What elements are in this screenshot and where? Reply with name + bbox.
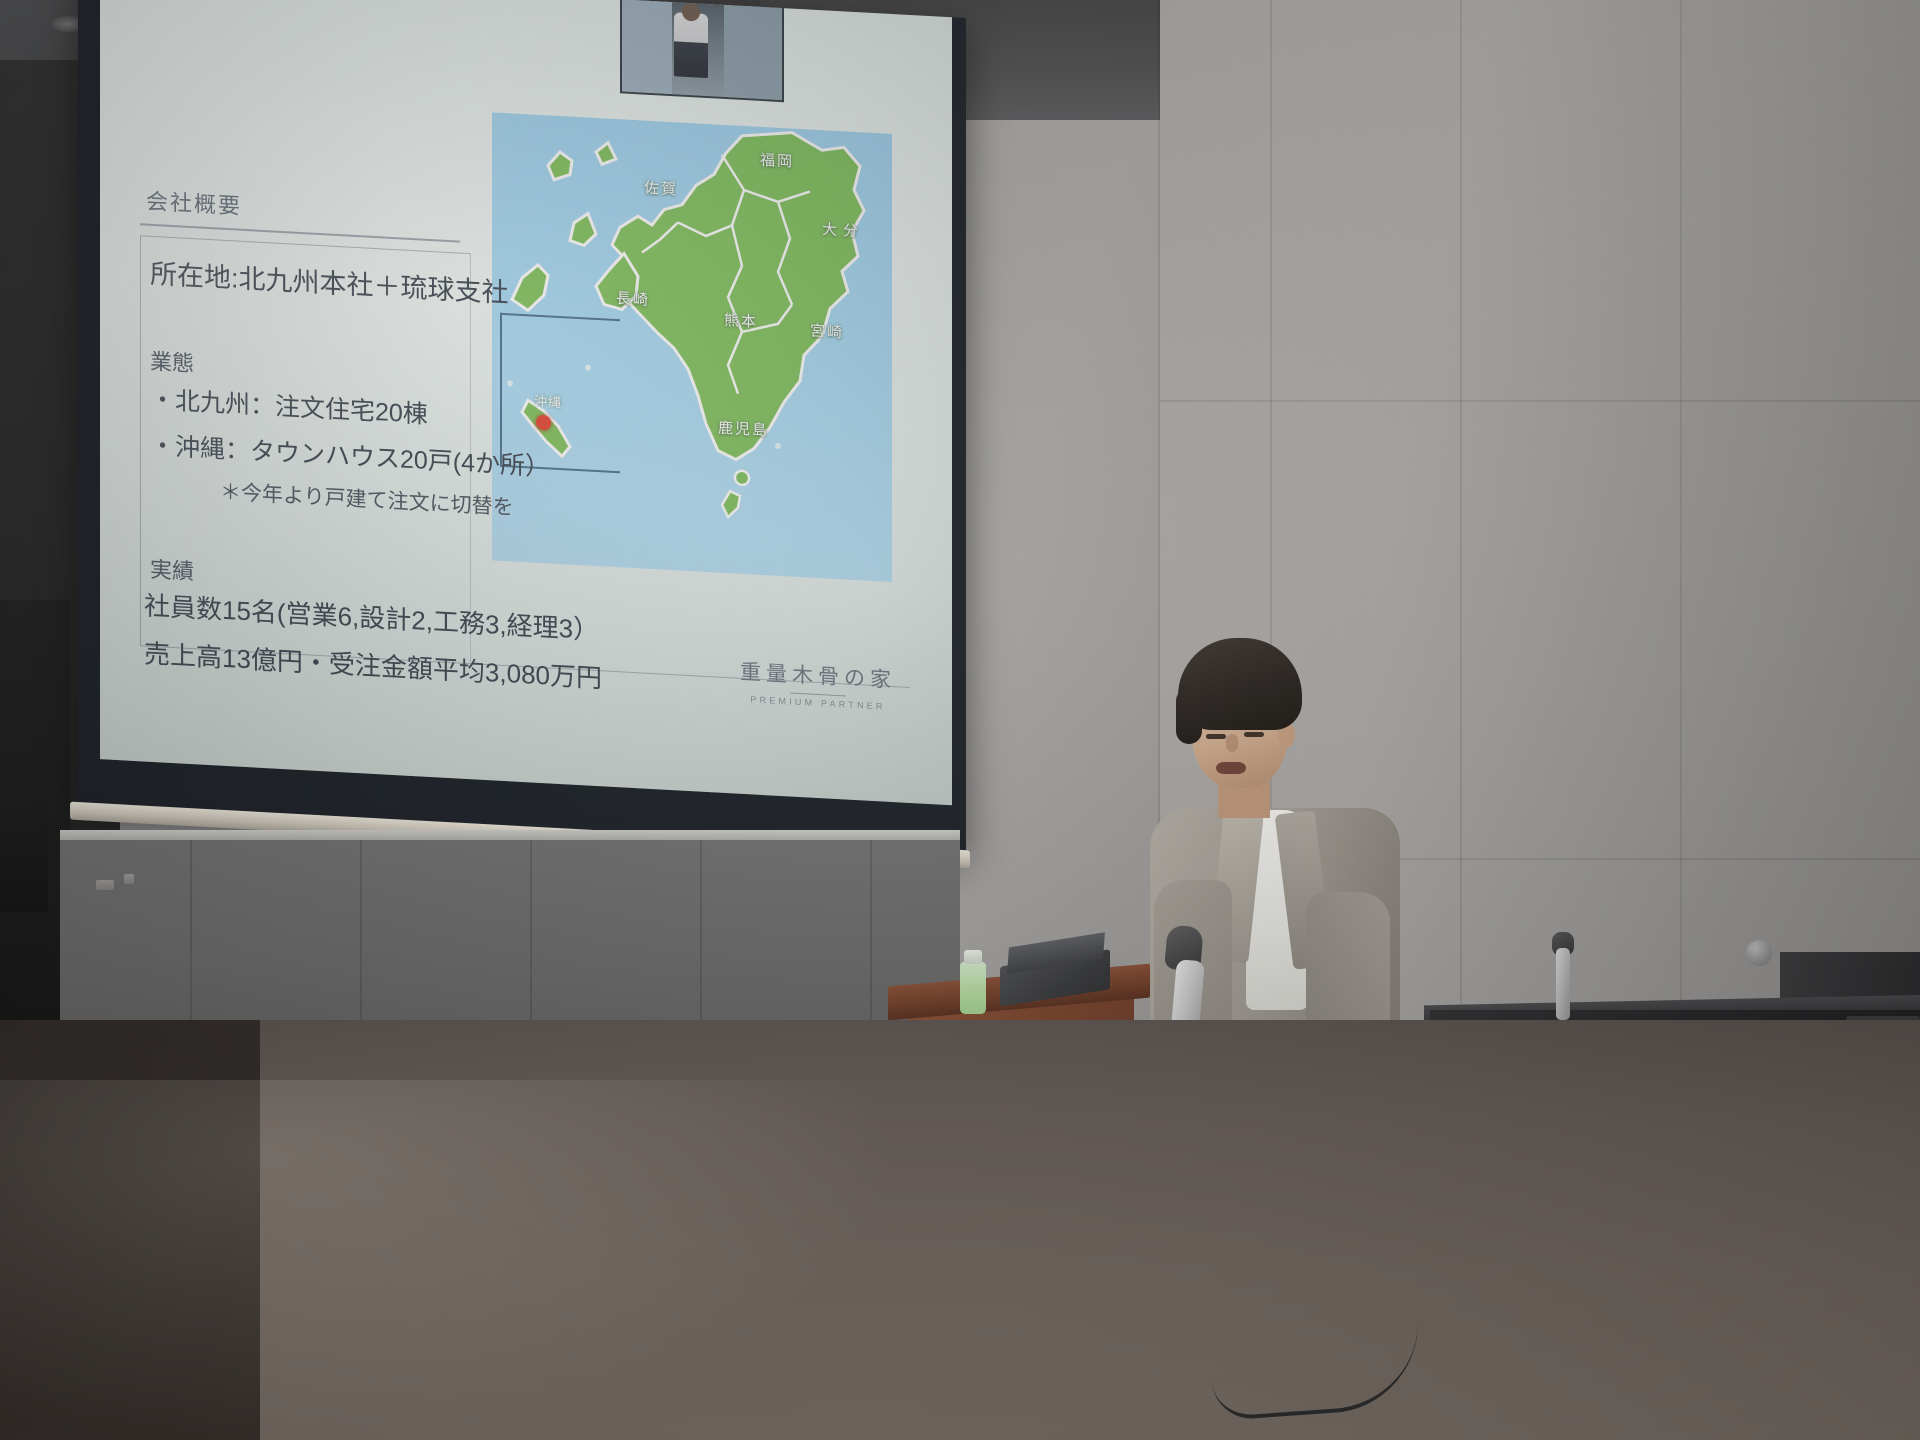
wall-monitor [0,782,48,912]
slide-business-item-1: ・北九州：注文住宅20棟 [150,380,428,431]
speaker-eye-right [1244,732,1264,737]
speaker-eye-left [1206,734,1226,739]
map-label-nagasaki: 長崎 [616,287,650,310]
map-label-fukuoka: 福岡 [760,149,794,172]
bottle-cap [964,950,982,964]
slide-business-heading: 業態 [150,344,194,378]
map-label-saga: 佐賀 [644,177,678,200]
brand-logo-kanji: 重量木骨の家 [740,656,896,694]
table-microphone [1556,948,1570,1020]
pip-camera-feed [620,0,784,102]
brand-logo: 重量木骨の家 PREMIUM PARTNER [740,656,896,712]
presentation-slide: 沖縄 福岡 佐賀 大分 長崎 熊本 宮崎 鹿児島 会社概要 [100,0,952,805]
slide-address-line: 所在地:北九州本社＋琉球支社 [150,252,509,310]
okinawa-location-marker-icon [536,415,551,431]
wall-plate [96,880,114,890]
brand-logo-rule [790,693,846,697]
kyushu-okinawa-map: 沖縄 福岡 佐賀 大分 長崎 熊本 宮崎 鹿児島 [492,112,892,582]
brand-logo-english: PREMIUM PARTNER [740,694,896,712]
screen-surface: 沖縄 福岡 佐賀 大分 長崎 熊本 宮崎 鹿児島 会社概要 [100,0,952,805]
map-label-miyazaki: 宮崎 [810,320,844,343]
wall-plate [124,874,134,884]
content-box-left [140,235,141,645]
water-bottle [960,962,986,1014]
slide-results-heading: 実績 [150,552,194,586]
floor-reflection [0,1080,900,1440]
speaker-nose [1226,734,1238,752]
map-label-oita: 大分 [822,218,864,241]
slide-title: 会社概要 [146,184,242,221]
speaker-hair-side [1176,688,1202,744]
speaker-mouth [1216,762,1246,774]
title-underline [140,223,460,242]
slide-business-item-2: ・沖縄：タウンハウス20戸(4か所） [150,426,550,484]
control-knob [1746,940,1772,966]
projection-screen: 沖縄 福岡 佐賀 大分 長崎 熊本 宮崎 鹿児島 会社概要 [78,0,966,854]
photo-scene: 沖縄 福岡 佐賀 大分 長崎 熊本 宮崎 鹿児島 会社概要 [0,0,1920,1440]
map-label-okinawa: 沖縄 [534,391,562,412]
map-label-kumamoto: 熊本 [724,309,758,332]
map-label-kagoshima: 鹿児島 [718,417,769,441]
